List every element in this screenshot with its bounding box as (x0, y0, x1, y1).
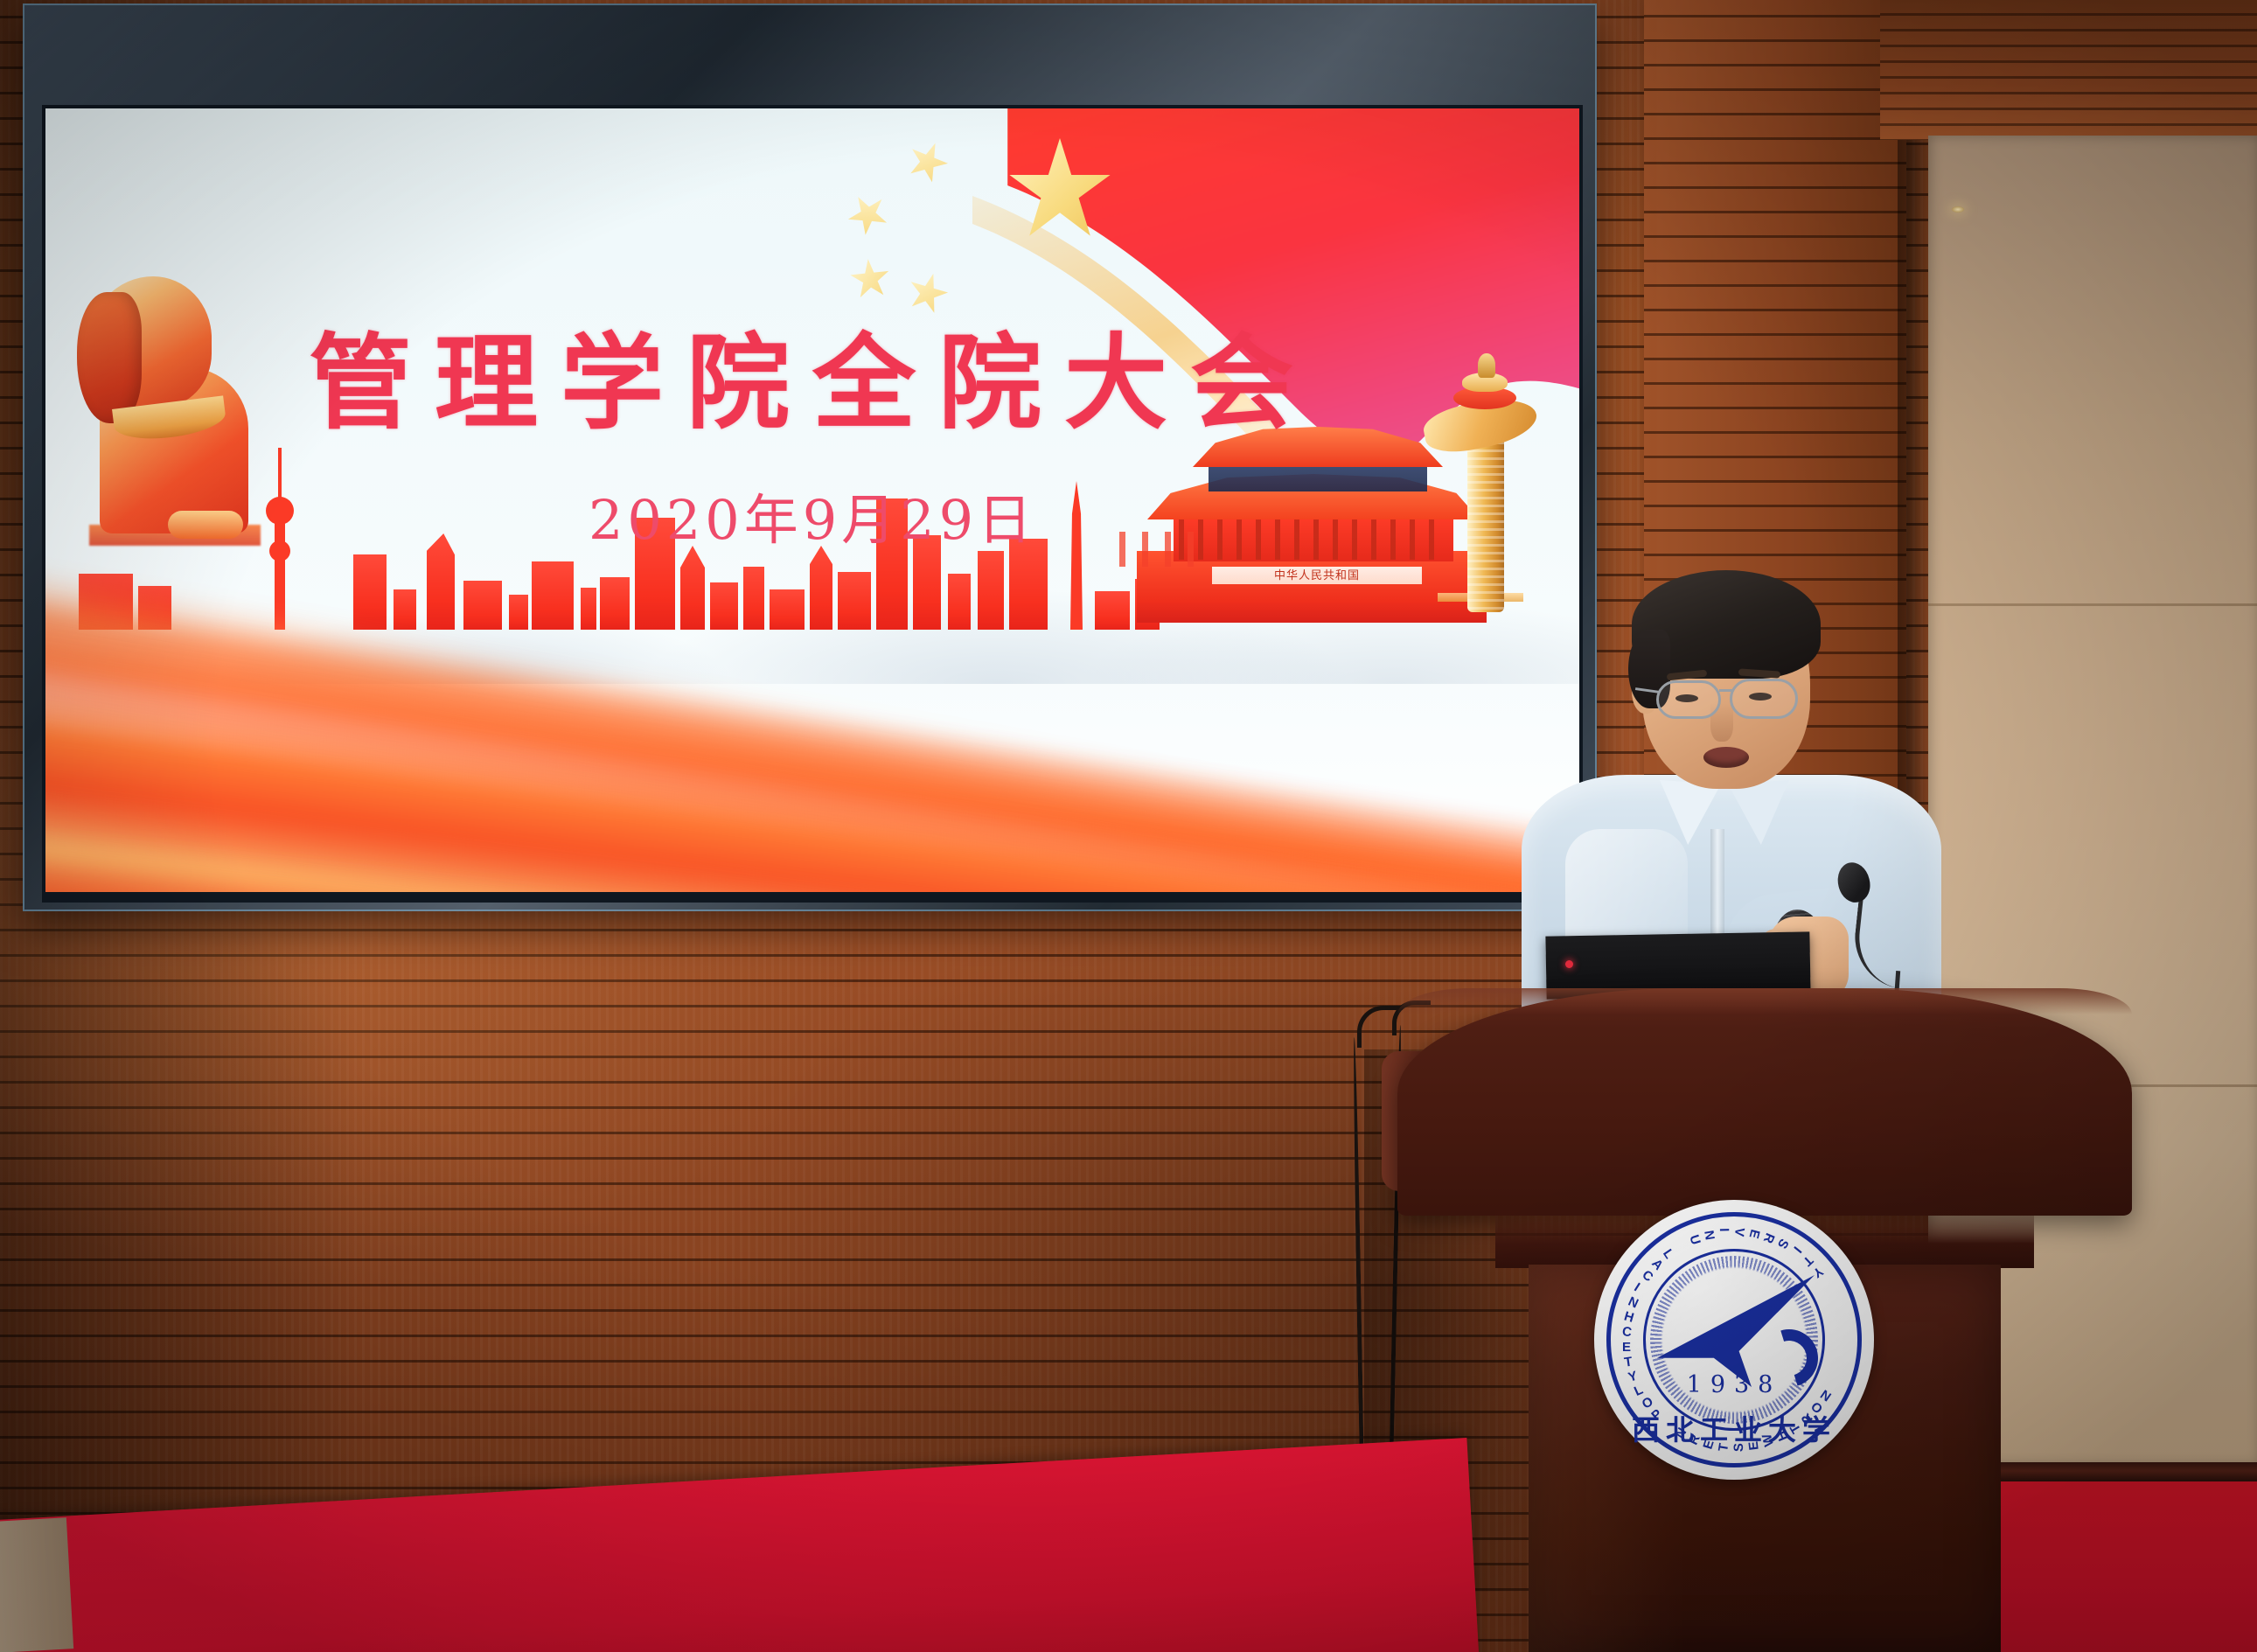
laptop-power-led (1565, 960, 1573, 968)
university-seal-logo: 1938 西北工业大学 NORTHWESTERN POLYTECHNICAL U… (1594, 1200, 1874, 1480)
presentation-screen: 中华人民共和国 管理学院全院大会 2020年9月29日 (45, 108, 1579, 892)
wall-panel-seam (1928, 603, 2257, 606)
seal-english-name: NORTHWESTERN POLYTECHNICAL UNIVERSITY (1594, 1200, 1874, 1480)
carpet-edge-trim (0, 1517, 73, 1652)
flag-small-star-icon (902, 136, 954, 188)
ceiling-soffit (1880, 0, 2257, 140)
slide-date: 2020年9月29日 (45, 476, 1579, 554)
flag-small-star-icon (840, 186, 897, 243)
flag-small-star-icon (848, 257, 893, 302)
slide-title: 管理学院全院大会 (45, 299, 1579, 449)
glasses-icon (1656, 680, 1721, 719)
tiananmen-banner-text: 中华人民共和国 (1212, 567, 1422, 584)
wall-light-icon (1952, 206, 1964, 213)
photo-scene: 中华人民共和国 管理学院全院大会 2020年9月29日 (0, 0, 2257, 1652)
glasses-icon (1730, 679, 1798, 719)
